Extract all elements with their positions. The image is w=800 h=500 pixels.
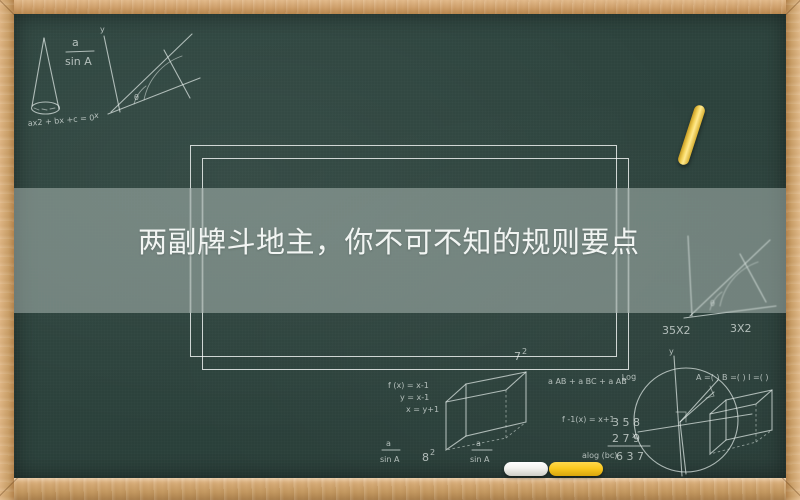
axis-label-x: x: [94, 111, 99, 120]
log-label: Log: [622, 372, 637, 382]
power-eight-exponent: 2: [430, 448, 435, 457]
angle-protractor-diagram-left: y x θ: [94, 25, 200, 120]
log-small-label: alog (bc): [582, 451, 617, 460]
addition-operand-1: 3 5 8: [612, 416, 640, 429]
chalkboard-banner: a sin A ax2 + bx +c = 0 y x θ: [0, 0, 800, 500]
axis-label-y: y: [100, 25, 105, 34]
fraction-denominator-bc: sin A: [470, 455, 490, 464]
set-expression: a AB + a BC + a AB: [548, 377, 627, 386]
circle-axis-label-x: x: [632, 431, 637, 440]
cone-diagram: [32, 38, 60, 114]
fraction-numerator-bl: a: [386, 439, 391, 448]
inverse-function: f -1(x) = x+1: [562, 415, 615, 424]
function-equations: f (x) = x-1 y = x-1 x = y+1: [388, 381, 439, 414]
function-line-3: x = y+1: [406, 405, 439, 414]
circle-axis-label-y: y: [669, 347, 674, 356]
power-eight: 8 2: [422, 448, 435, 464]
chalk-stick-white-ledge: [504, 462, 548, 476]
matrix-expression: A =( ) B =( ) I =( ): [696, 373, 769, 382]
fraction-a-over-sinA-left: a sin A: [65, 36, 94, 68]
frame-right-rail: [786, 0, 800, 500]
addition-operand-2: 2 7 9: [612, 432, 640, 445]
frame-bottom-ledge: [0, 478, 800, 500]
function-line-1: f (x) = x-1: [388, 381, 429, 390]
fraction-a-over-sinA-bottom-center: a sin A: [470, 439, 492, 464]
fraction-numerator: a: [72, 36, 79, 49]
power-eight-base: 8: [422, 451, 429, 464]
multiplication-label-1: 35X2: [662, 324, 691, 337]
fraction-denominator-bl: sin A: [380, 455, 400, 464]
multiplication-label-2: 3X2: [730, 322, 752, 335]
page-title: 两副牌斗地主，你不可不知的规则要点: [138, 222, 678, 262]
circle-axes-diagram: y x: [632, 347, 752, 476]
quadratic-equation: ax2 + bx +c = 0: [27, 113, 94, 128]
fraction-a-over-sinA-bottom-left: a sin A: [380, 439, 400, 464]
function-line-2: y = x-1: [400, 393, 429, 402]
chalk-stick-yellow-board: [677, 104, 707, 166]
cube-diagram-right: [710, 390, 772, 454]
frame-left-rail: [0, 0, 14, 500]
cube-diagram-center: [446, 372, 526, 450]
chalk-stick-yellow-ledge: [549, 462, 603, 476]
angle-theta-label: θ: [134, 93, 139, 102]
addition-sum: 3 5 8 2 7 9 6 3 7: [608, 416, 650, 463]
fraction-numerator-bc: a: [476, 439, 481, 448]
frame-top-rail: [0, 0, 800, 14]
addition-result: 6 3 7: [616, 450, 644, 463]
fraction-denominator: sin A: [65, 55, 92, 68]
